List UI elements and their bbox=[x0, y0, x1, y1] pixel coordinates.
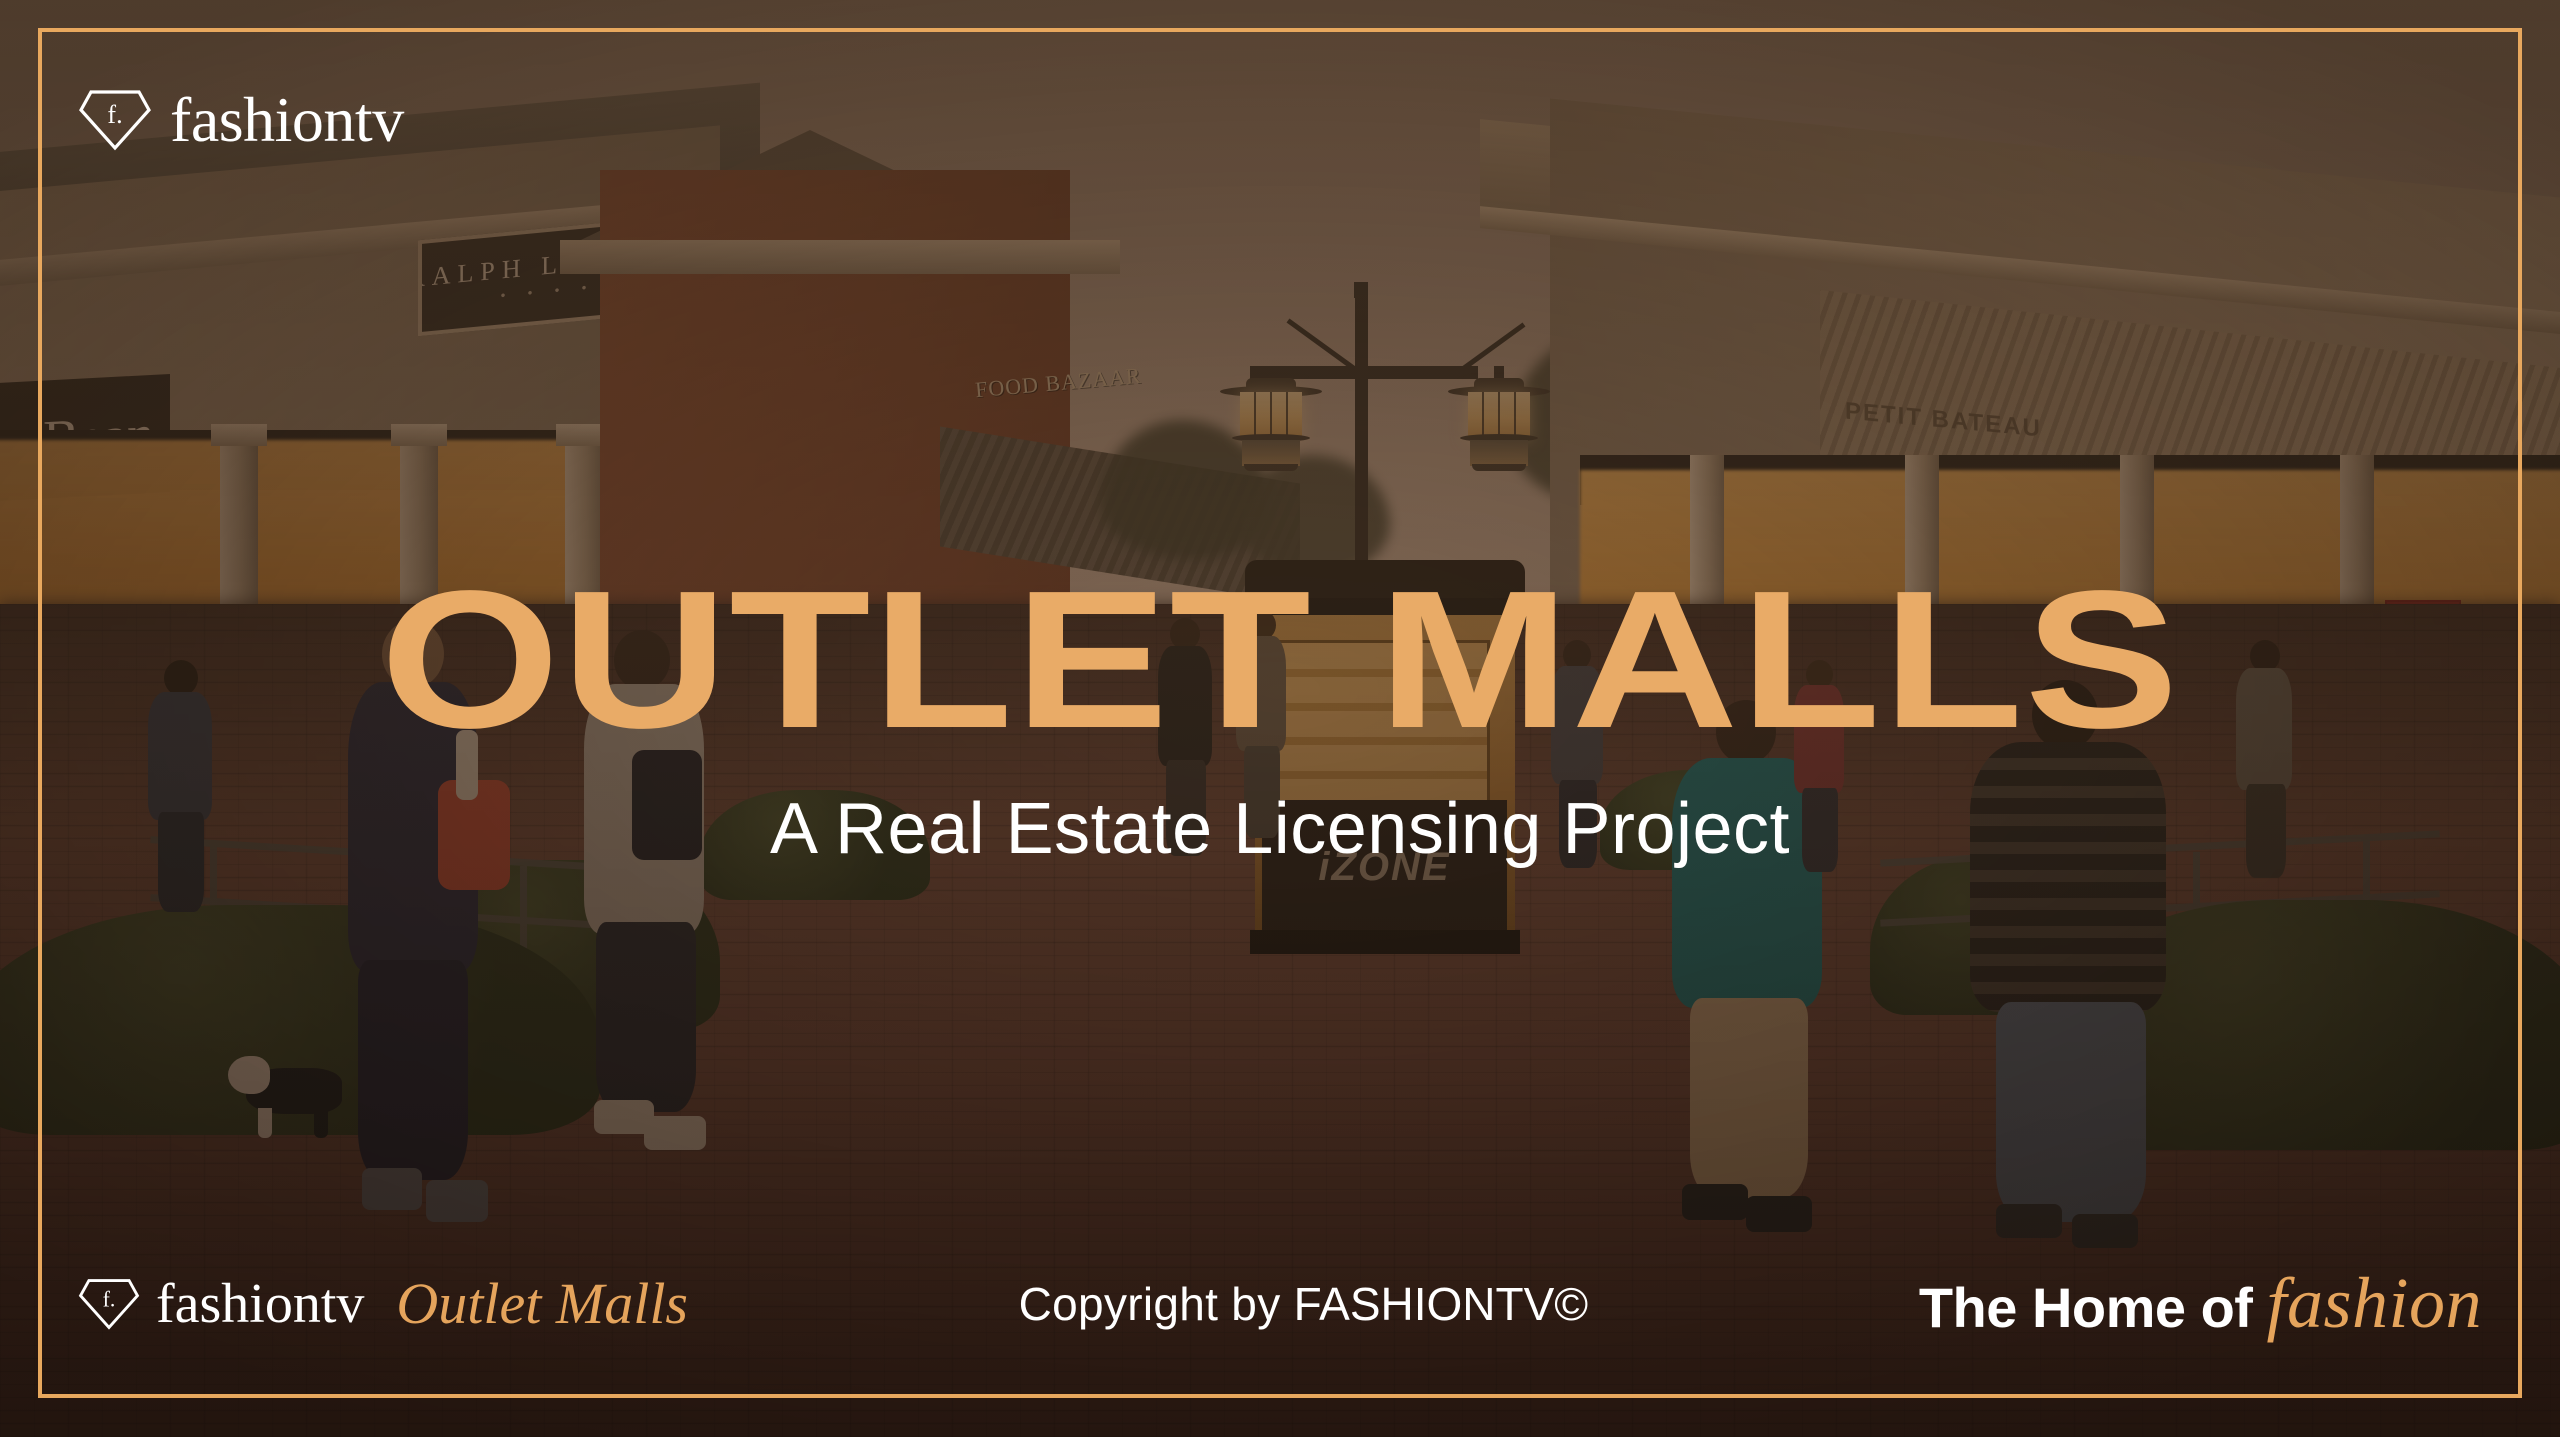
brand-lockup-top: f. fashiontv bbox=[78, 88, 404, 152]
fashiontv-diamond-logo: f. bbox=[78, 1278, 140, 1330]
footer-brand-lockup: f. fashiontv Outlet Malls bbox=[78, 1275, 688, 1333]
copyright-notice: Copyright by FASHIONTV© bbox=[1019, 1277, 1589, 1331]
title-slide: Bean RALPH LAUREN • • • • FOOD BAZAAR PE… bbox=[0, 0, 2560, 1437]
headline-block: OUTLET MALLS A Real Estate Licensing Pro… bbox=[0, 566, 2560, 870]
tagline-accent: fashion bbox=[2266, 1262, 2482, 1345]
footer-wordmark: fashiontv bbox=[156, 1276, 364, 1332]
copyright-prefix: Copyright by bbox=[1019, 1278, 1294, 1330]
slide-footer: f. fashiontv Outlet Malls Copyright by F… bbox=[78, 1262, 2482, 1345]
svg-text:f.: f. bbox=[107, 100, 122, 129]
tagline-primary: The Home of bbox=[1919, 1275, 2253, 1340]
fashiontv-diamond-logo: f. bbox=[78, 89, 152, 151]
copyright-mark: FASHIONTV© bbox=[1294, 1278, 1589, 1330]
footer-project-name: Outlet Malls bbox=[396, 1275, 688, 1333]
brand-wordmark-top: fashiontv bbox=[170, 88, 404, 152]
svg-text:f.: f. bbox=[103, 1287, 116, 1311]
tagline: The Home of fashion bbox=[1919, 1262, 2482, 1345]
page-subtitle: A Real Estate Licensing Project bbox=[0, 788, 2560, 870]
page-title: OUTLET MALLS bbox=[0, 566, 2560, 754]
